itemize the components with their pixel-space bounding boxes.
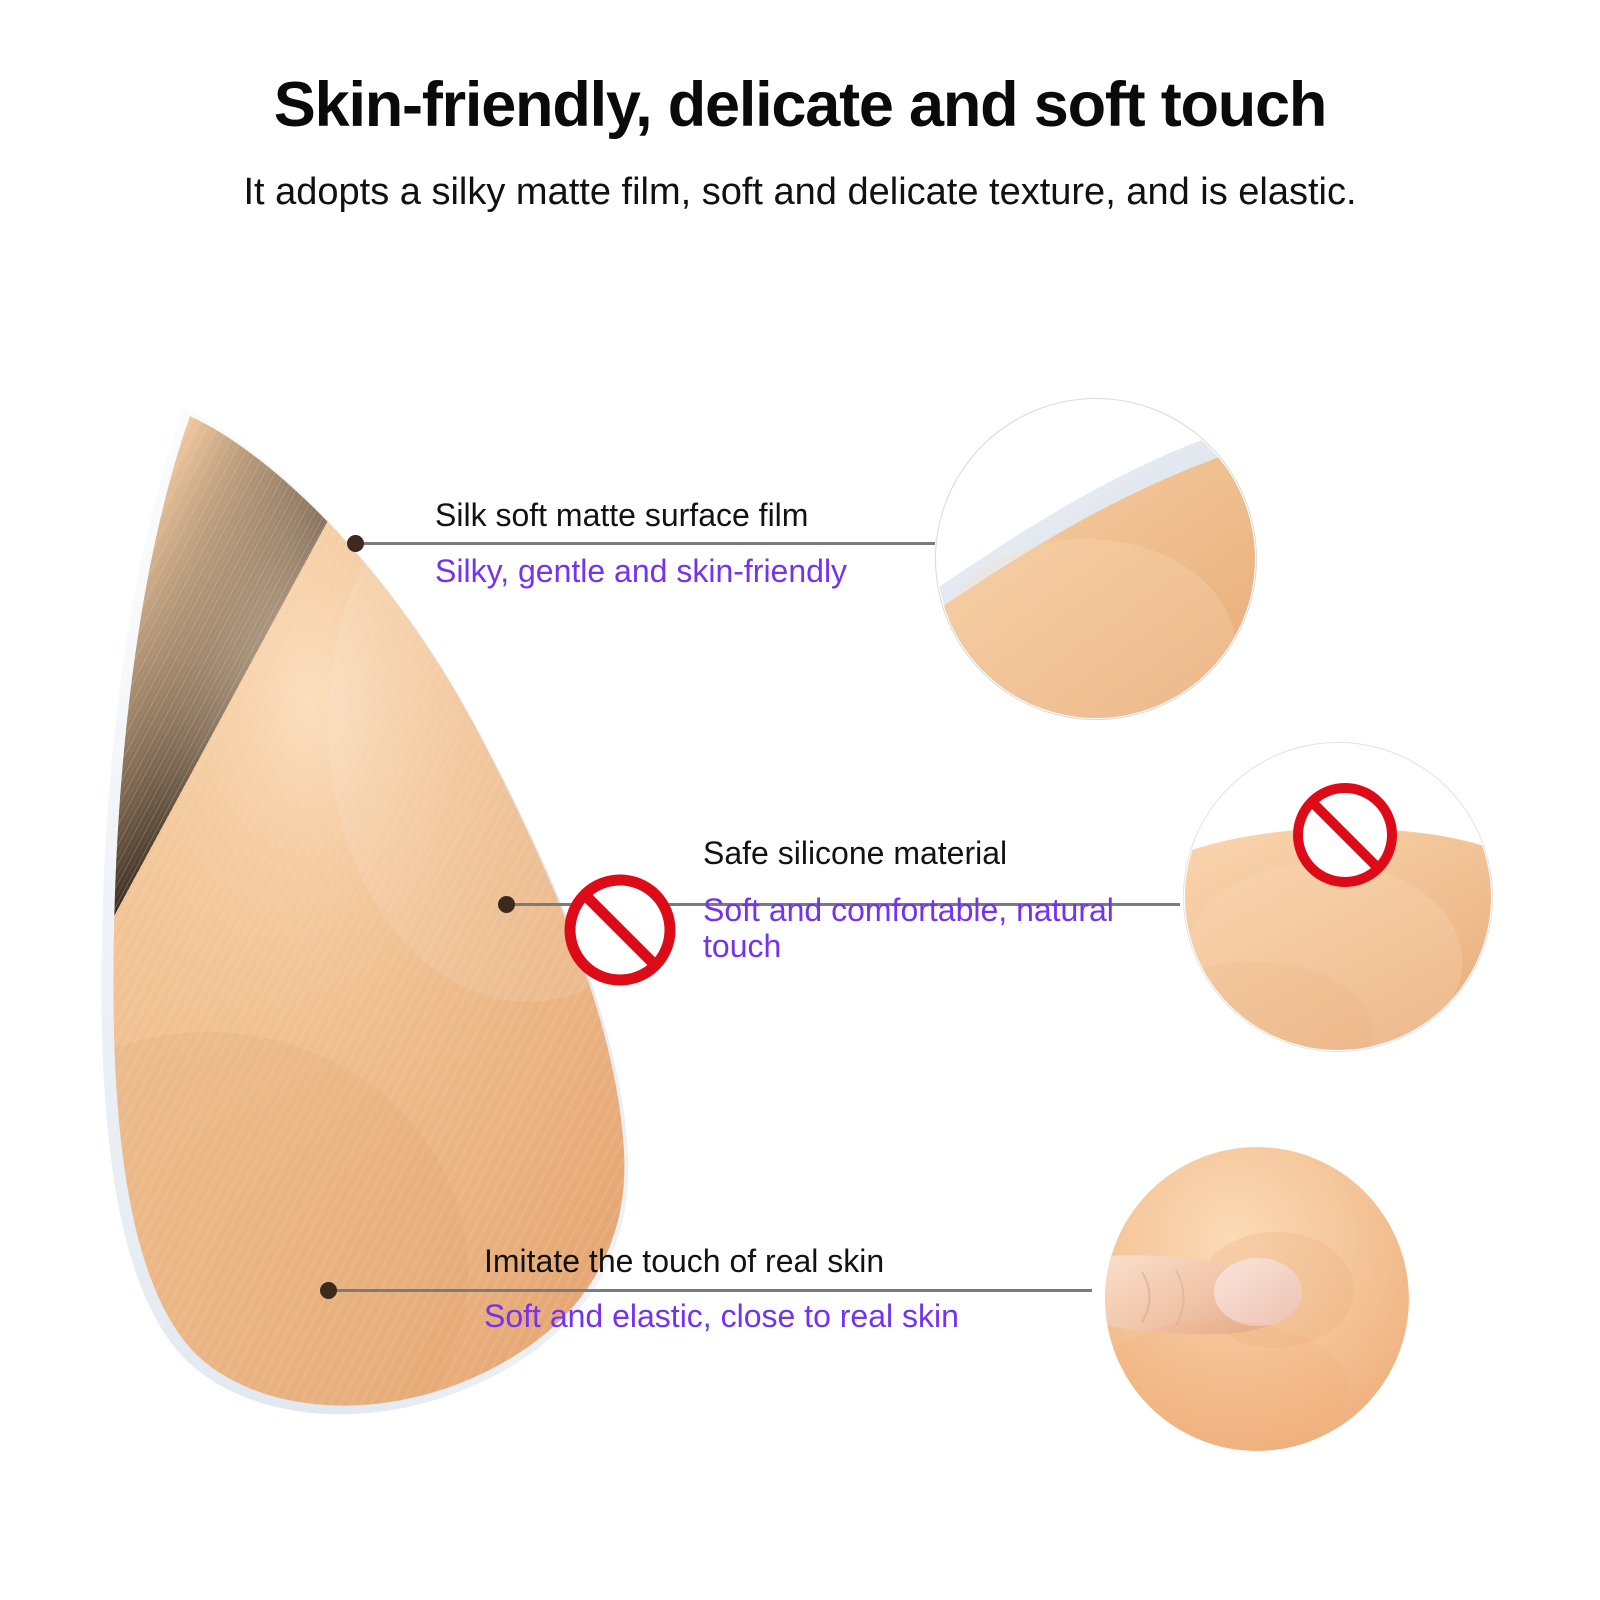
edge-film-detail-inset — [935, 398, 1257, 720]
callout-title: Imitate the touch of real skin — [484, 1244, 959, 1280]
callout-title: Safe silicone material — [703, 836, 1165, 872]
page-title: Skin-friendly, delicate and soft touch — [0, 72, 1600, 138]
leader-dot — [498, 896, 515, 913]
prohibition-icon — [1285, 775, 1405, 895]
edge-film-detail-art — [936, 399, 1256, 719]
callout-silk-film: Silk soft matte surface film Silky, gent… — [435, 498, 847, 589]
leader-dot — [320, 1282, 337, 1299]
finger-press-detail-art — [1098, 1140, 1416, 1458]
callout-description: Soft and comfortable, natural touch — [703, 892, 1165, 965]
callout-title: Silk soft matte surface film — [435, 498, 847, 534]
page-subtitle: It adopts a silky matte film, soft and d… — [0, 172, 1600, 214]
finger-press-detail-inset — [1098, 1140, 1416, 1458]
prohibition-icon — [556, 866, 684, 994]
callout-description: Soft and elastic, close to real skin — [484, 1298, 959, 1334]
callout-real-skin-touch: Imitate the touch of real skin Soft and … — [484, 1244, 959, 1334]
callout-safe-silicone: Safe silicone material Soft and comforta… — [703, 836, 1165, 965]
leader-dot — [347, 535, 364, 552]
infographic-canvas: Skin-friendly, delicate and soft touch I… — [0, 0, 1600, 1600]
callout-description: Silky, gentle and skin-friendly — [435, 553, 847, 589]
